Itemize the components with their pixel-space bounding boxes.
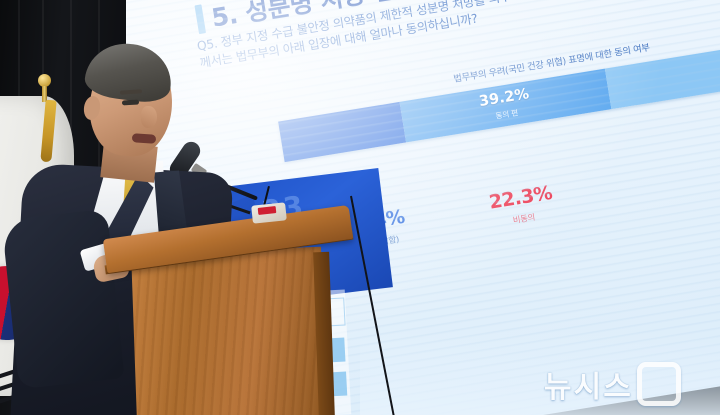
podium-body bbox=[131, 247, 327, 415]
bar-category-label: 동의 편 bbox=[495, 107, 519, 121]
stacked-bar-chart: 39.2% 동의 편 bbox=[278, 37, 720, 162]
press-conference-photo: 5. 성분명 처방 법안 우려 공감도 06 Q5. 정부 지정 수급 불안정 … bbox=[0, 0, 720, 415]
watermark: 뉴시스 bbox=[544, 362, 681, 406]
summary-disagree: 22.3% 비동의 bbox=[488, 184, 556, 230]
bar-segment-1 bbox=[278, 102, 406, 162]
nose bbox=[141, 106, 157, 128]
wood-grain bbox=[131, 247, 327, 415]
watermark-text: 뉴시스 bbox=[544, 362, 633, 406]
summary-figures: 62.4% 동의 (공감함) 22.3% 비동의 bbox=[340, 141, 720, 253]
mouth bbox=[132, 133, 157, 144]
watermark-logo-icon bbox=[637, 362, 681, 406]
bar-value-label: 39.2% bbox=[478, 87, 530, 109]
arm bbox=[1, 209, 124, 389]
bar-segment-2: 39.2% 동의 편 bbox=[399, 69, 611, 143]
eye bbox=[122, 100, 139, 106]
title-accent-bar bbox=[194, 4, 206, 34]
